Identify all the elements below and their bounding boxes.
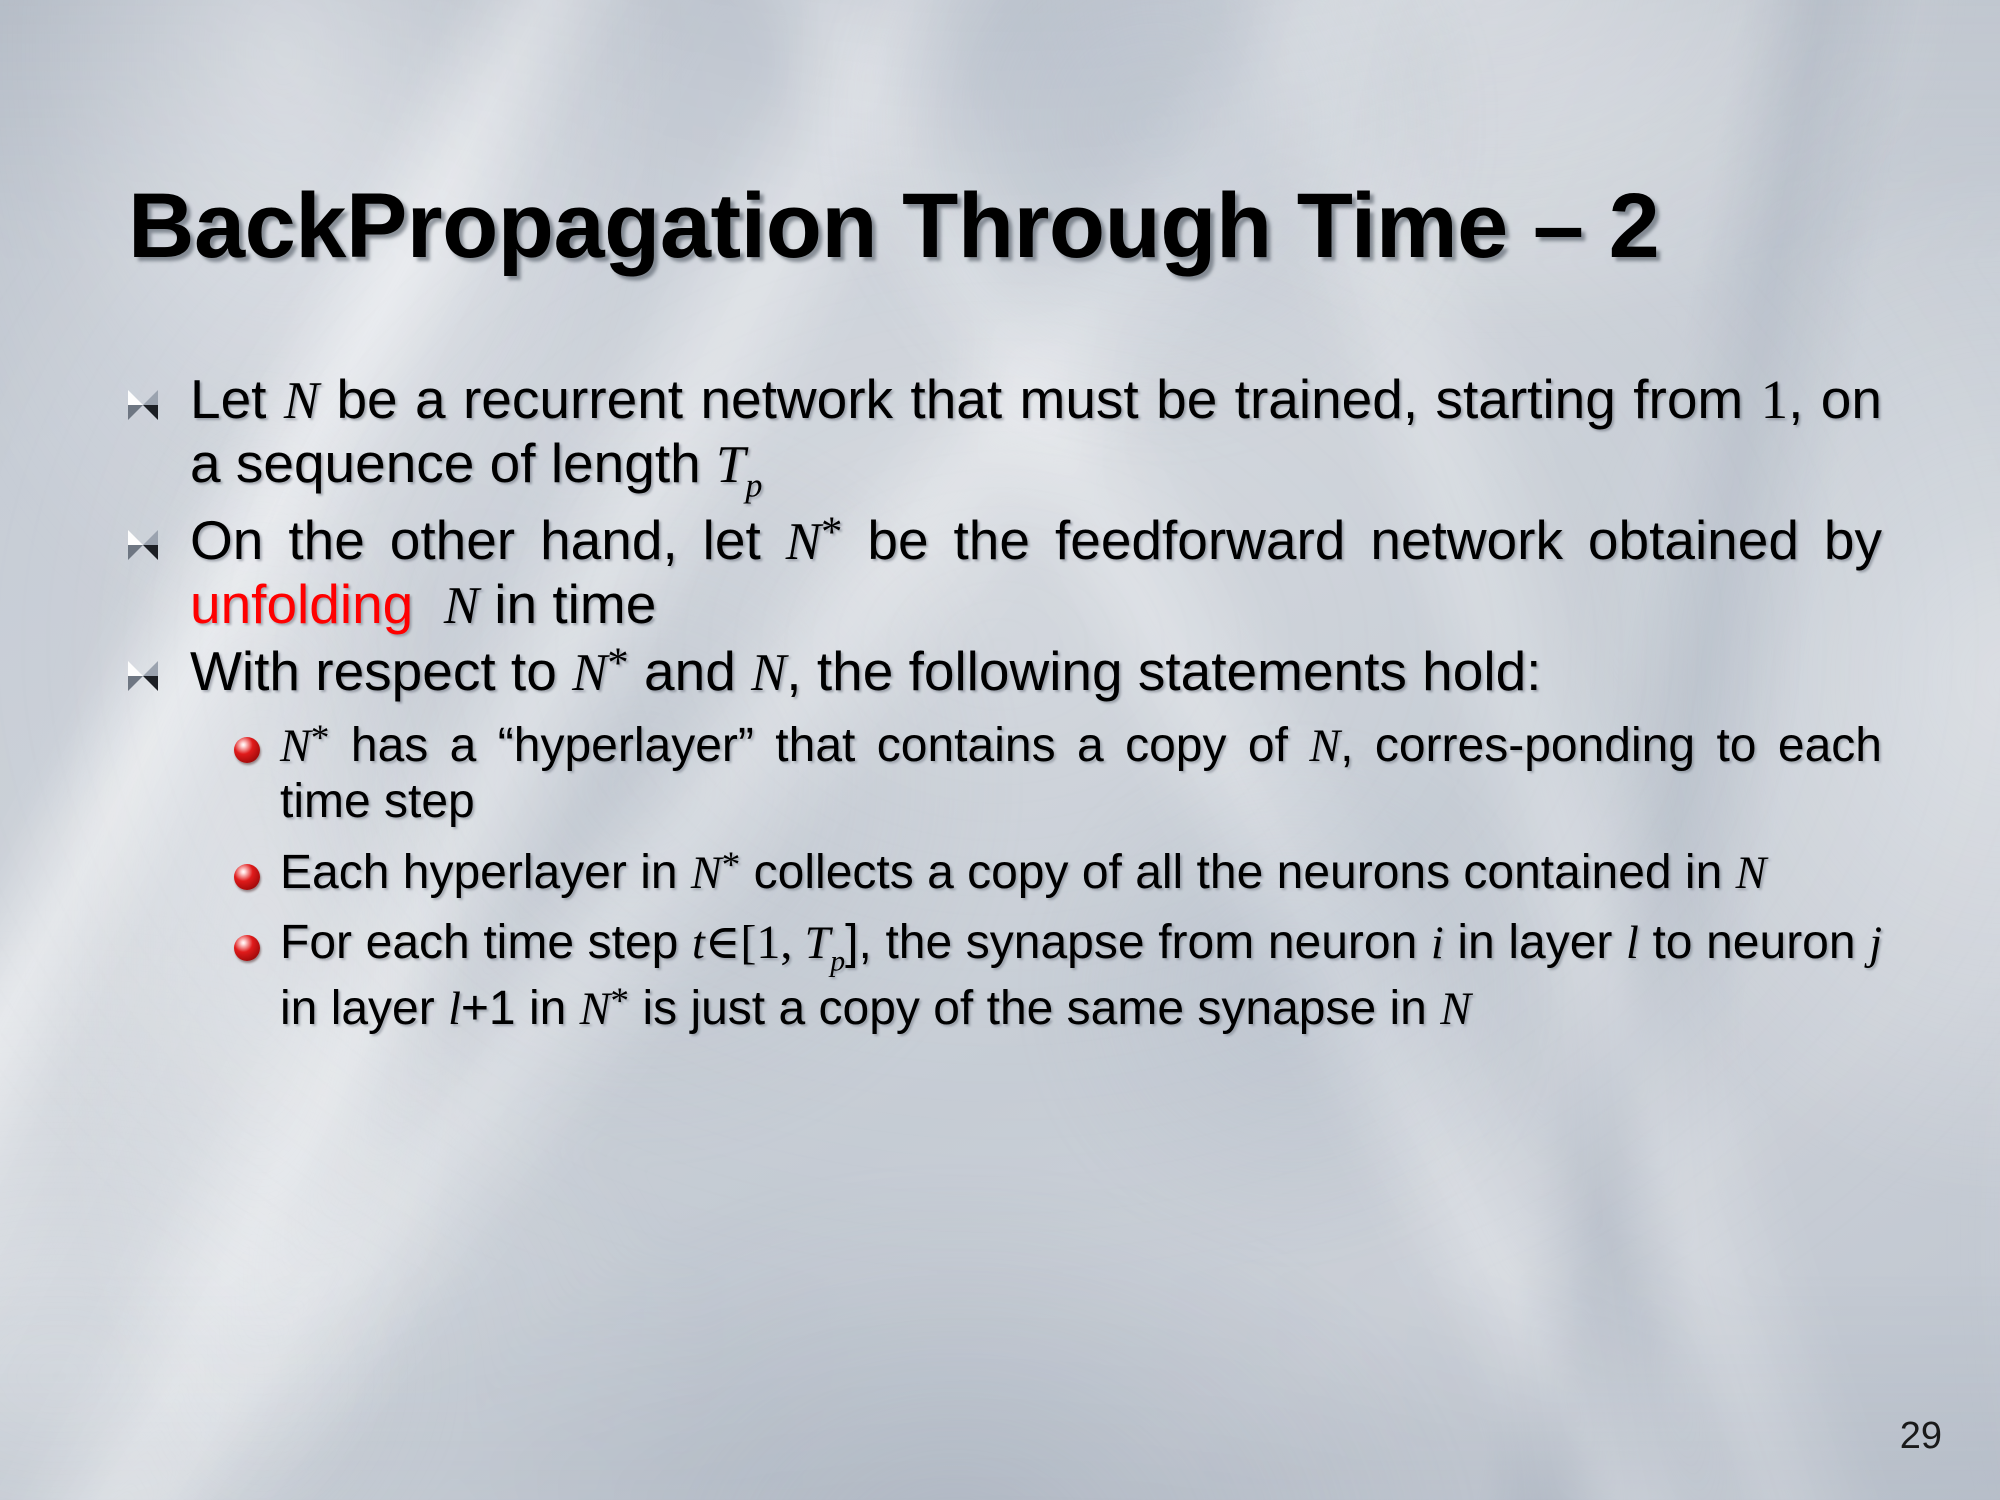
math-variable-N: N [751,644,786,702]
math-variable-N: N [1736,847,1767,898]
text-run: [1, [740,916,804,969]
text-run [413,573,428,635]
math-variable-N: N [580,983,611,1034]
math-number-one: 1 [1761,369,1789,430]
math-star-superscript: * [722,845,741,886]
math-variable-l: l [1626,917,1639,968]
slide-canvas: BackPropagation Through Time – 2 Let N b… [0,0,2000,1500]
sub-bullet-3-text: For each time step t∈[1, Tp], the synaps… [280,915,1882,1037]
sub-bullet-2-text: Each hyperlayer in N* collects a copy of… [280,844,1882,901]
bullet-item-1: Let N be a recurrent network that must b… [122,368,1882,506]
bullet-2-text: On the other hand, let N* be the feedfor… [190,508,1882,637]
text-run: On the other hand, let [190,509,786,571]
sub-bullet-item-2: Each hyperlayer in N* collects a copy of… [232,844,1882,901]
red-sphere-bullet-icon [234,737,260,763]
text-run: Let [190,368,284,430]
text-run: , the following statements hold: [786,640,1541,702]
math-variable-N: N [572,644,607,702]
math-variable-N: N [280,720,311,771]
slide-body: Let N be a recurrent network that must b… [122,368,1882,1051]
math-star-superscript: * [610,981,629,1022]
text-run: be a recurrent network that must be trai… [319,368,1761,430]
text-run: be the feedforward network obtained by [842,509,1882,571]
sub-bullet-1-text: N* has a “hyperlayer” that contains a co… [280,717,1882,831]
math-star-superscript: * [821,509,842,556]
math-variable-N: N [691,847,722,898]
sub-bullet-item-3: For each time step t∈[1, Tp], the synaps… [232,915,1882,1037]
text-run: With respect to [190,640,572,702]
text-run: For each time step [280,916,692,969]
math-variable-N: N [444,577,479,635]
math-variable-t: t [692,917,705,968]
bullet-1-text: Let N be a recurrent network that must b… [190,368,1882,506]
sub-bullet-list: N* has a “hyperlayer” that contains a co… [122,717,1882,1038]
text-run: in time [479,573,656,635]
math-star-superscript: * [607,640,628,687]
sub-bullet-item-1: N* has a “hyperlayer” that contains a co… [232,717,1882,831]
text-run: in layer [280,982,448,1035]
bullet-item-2: On the other hand, let N* be the feedfor… [122,508,1882,637]
math-variable-l: l [448,983,461,1034]
highlighted-term-unfolding: unfolding [190,573,413,635]
diamond-arrow-bullet-icon [128,530,158,560]
bullet-item-3: With respect to N* and N, the following … [122,639,1882,704]
math-variable-N: N [1309,720,1340,771]
slide-title: BackPropagation Through Time – 2 [128,180,1888,272]
math-variable-N: N [1440,983,1471,1034]
math-variable-i: i [1431,917,1444,968]
math-variable-T: T [716,436,745,494]
math-variable-j: j [1869,917,1882,968]
text-run: Each hyperlayer in [280,846,691,899]
math-variable-N: N [786,513,821,571]
red-sphere-bullet-icon [234,935,260,961]
red-sphere-bullet-icon [234,864,260,890]
bullet-3-text: With respect to N* and N, the following … [190,639,1882,704]
math-variable-T: T [805,917,831,968]
math-element-of-symbol: ∈ [705,916,741,969]
math-variable-N: N [284,372,319,430]
math-star-superscript: * [311,718,330,759]
math-subscript-p: p [745,468,762,505]
text-run: has a “hyperlayer” that contains a copy … [329,719,1309,772]
text-run: collects a copy of all the neurons conta… [740,846,1735,899]
math-subscript-p: p [830,945,845,978]
text-run: to neuron [1639,916,1869,969]
text-run: is just a copy of the same synapse in [629,982,1440,1035]
text-run: in layer [1444,916,1626,969]
text-run: and [629,640,751,702]
diamond-arrow-bullet-icon [128,390,158,420]
text-run: +1 in [461,982,580,1035]
page-number: 29 [1900,1415,1942,1458]
text-run: ], the synapse from neuron [845,916,1431,969]
diamond-arrow-bullet-icon [128,661,158,691]
